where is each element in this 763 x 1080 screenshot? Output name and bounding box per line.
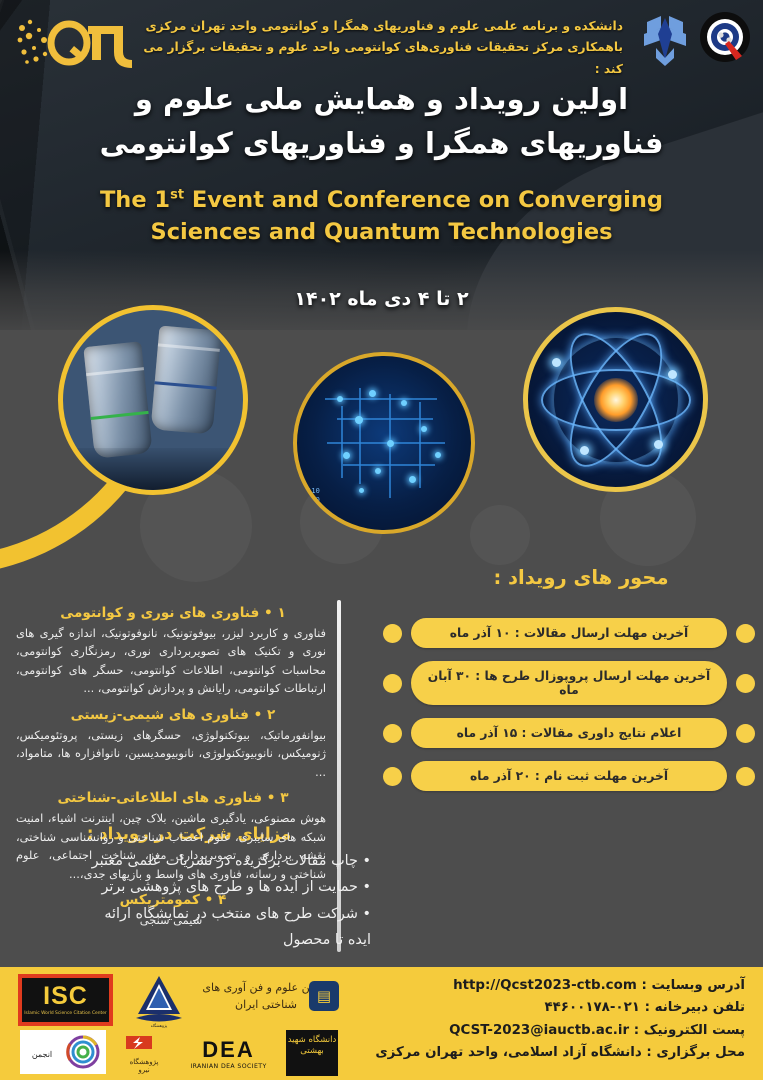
svg-text:نیرو: نیرو xyxy=(137,1066,149,1074)
english-title-line-1: The 1st Event and Conference on Convergi… xyxy=(0,185,763,217)
deadline-row: آخرین مهلت ارسال مقالات : ۱۰ آذر ماه xyxy=(383,618,755,648)
isc-subtext: Islamic World Science Citation Center xyxy=(24,1011,106,1016)
deadline-dot-right xyxy=(736,724,755,743)
topic-label: فناوری های اطلاعاتی-شناختی xyxy=(57,790,262,806)
binary-overlay: 0110010010011001 xyxy=(303,487,320,522)
association-circle-logo: انجمن xyxy=(20,1030,106,1074)
top-right-logos xyxy=(641,8,751,70)
topic-bullet: • xyxy=(264,605,273,621)
deadline-dot-right xyxy=(736,674,755,693)
sponsor-logos: ISC Islamic World Science Citation Cente… xyxy=(6,972,336,1076)
deadline-pill: آخرین مهلت ثبت نام : ۲۰ آذر ماه xyxy=(411,761,727,791)
shahid-beheshti-logo: دانشگاه شهید بهشتی xyxy=(286,1030,338,1076)
contact-phone: تلفن دبیرخانه : ۰۲۱-۴۴۶۰۰۱۷۸ xyxy=(345,997,745,1019)
website-label: آدرس وبسایت : xyxy=(641,978,745,993)
decorative-circle xyxy=(470,505,530,565)
english-title-prefix: The 1 xyxy=(100,187,170,213)
benefit-item: شرکت طرح های منتخب در نمایشگاه ارائه xyxy=(15,903,371,926)
persian-title-line-1: اولین رویداد و همایش ملی علوم و xyxy=(0,78,763,122)
topic-number: ۱ xyxy=(277,605,285,621)
english-title-rest: Event and Conference on Converging xyxy=(192,187,663,213)
deadline-dot-left xyxy=(383,724,402,743)
microscope-image xyxy=(58,305,248,495)
event-date: ۲ تا ۴ دی ماه ۱۴۰۲ xyxy=(0,288,763,310)
deadline-pill: آخرین مهلت ارسال پروپوزال طرح ها : ۳۰ آب… xyxy=(411,661,727,705)
topic-title: ۱ • فناوری های نوری و کوانتومی xyxy=(8,605,338,621)
benefit-item: حمایت از ایده ها و طرح های پژوهشی برتر xyxy=(15,876,371,899)
circuit-brain-image: 0110010010011001 xyxy=(293,352,475,534)
shahid-beheshti-text: دانشگاه شهید بهشتی xyxy=(286,1030,338,1058)
dea-subtext: IRANIAN DEA SOCIETY xyxy=(190,1063,266,1070)
deadline-dot-right xyxy=(736,767,755,786)
topic-title: ۳ • فناوری های اطلاعاتی-شناختی xyxy=(8,790,338,806)
topic-label: فناوری های شیمی-زیستی xyxy=(71,707,249,723)
svg-text:پژوهشگاه: پژوهشگاه xyxy=(151,1023,167,1028)
topic-number: ۳ xyxy=(280,790,288,806)
persian-title-line-2: فناوریهای همگرا و فناوریهای کوانتومی xyxy=(0,122,763,166)
topic-item: ۲ • فناوری های شیمی-زیستی بیوانفورماتیک،… xyxy=(8,707,338,781)
deadline-row: اعلام نتایج داوری مقالات : ۱۵ آذر ماه xyxy=(383,718,755,748)
deadline-dot-left xyxy=(383,767,402,786)
email-value[interactable]: QCST-2023@iauctb.ac.ir xyxy=(449,1023,629,1038)
english-title-line-2: Sciences and Quantum Technologies xyxy=(0,217,763,249)
atom-image xyxy=(523,307,708,492)
topic-body: فناوری و کاربرد لیزر، بیوفوتونیک، نانوفو… xyxy=(8,624,338,698)
isc-text: ISC xyxy=(43,984,88,1009)
topic-number: ۲ xyxy=(267,707,275,723)
quantum-research-center-logo xyxy=(699,11,751,67)
venue-value: دانشگاه آزاد اسلامی، واحد تهران مرکزی xyxy=(375,1045,641,1060)
deadline-dot-right xyxy=(736,624,755,643)
svg-text:پژوهشگاه: پژوهشگاه xyxy=(130,1057,159,1066)
topic-bullet: • xyxy=(267,790,276,806)
deadline-row: آخرین مهلت ارسال پروپوزال طرح ها : ۳۰ آب… xyxy=(383,661,755,705)
contact-website: آدرس وبسایت : http://Qcst2023-ctb.com xyxy=(345,975,745,997)
topic-body: بیوانفورماتیک، بیوتکنولوژی، حسگرهای زیست… xyxy=(8,726,338,781)
persian-title: اولین رویداد و همایش ملی علوم و فناوریها… xyxy=(0,78,763,165)
email-label: پست الکترونیک : xyxy=(634,1023,745,1038)
phone-value: ۰۲۱-۴۴۶۰۰۱۷۸ xyxy=(544,1000,639,1015)
contact-info: آدرس وبسایت : http://Qcst2023-ctb.com تل… xyxy=(345,975,745,1064)
benefit-item-continuation: ایده تا محصول xyxy=(15,929,371,952)
topics-heading: محور های رویداد : xyxy=(421,566,741,589)
contact-venue: محل برگزاری : دانشگاه آزاد اسلامی، واحد … xyxy=(345,1042,745,1064)
website-value[interactable]: http://Qcst2023-ctb.com xyxy=(453,978,637,993)
host-organizations: دانشکده و برنامه علمی علوم و فناوریهای ه… xyxy=(123,16,623,80)
host-line-1: دانشکده و برنامه علمی علوم و فناوریهای ه… xyxy=(123,16,623,37)
host-line-2: باهمکاری مرکز تحقیقات فناوری‌های کوانتوم… xyxy=(123,37,623,80)
venue-label: محل برگزاری : xyxy=(646,1045,745,1060)
svg-text:انجمن: انجمن xyxy=(31,1050,51,1059)
deadline-pill: اعلام نتایج داوری مقالات : ۱۵ آذر ماه xyxy=(411,718,727,748)
dea-text: DEA xyxy=(202,1039,254,1061)
english-title: The 1st Event and Conference on Convergi… xyxy=(0,185,763,249)
qcst-logo xyxy=(14,12,138,74)
conference-poster: دانشکده و برنامه علمی علوم و فناوریهای ه… xyxy=(0,0,763,1080)
benefits-list: چاپ مقالات برگزیده در نشریات علمی معتبر … xyxy=(15,850,371,955)
azad-university-logo xyxy=(641,8,689,70)
dea-logo: DEA IRANIAN DEA SOCIETY xyxy=(176,1034,281,1074)
deadlines-list: آخرین مهلت ارسال مقالات : ۱۰ آذر ماه آخر… xyxy=(383,618,755,804)
footer: ▤ آدرس وبسایت : http://Qcst2023-ctb.com … xyxy=(0,967,763,1080)
deadline-dot-left xyxy=(383,674,402,693)
deadline-row: آخرین مهلت ثبت نام : ۲۰ آذر ماه xyxy=(383,761,755,791)
nucleus xyxy=(594,378,638,422)
isc-logo: ISC Islamic World Science Citation Cente… xyxy=(18,974,113,1026)
topic-title: ۲ • فناوری های شیمی-زیستی xyxy=(8,707,338,723)
pajooheshgah-niroo-logo: پژوهشگاه نیرو xyxy=(118,1034,170,1076)
ordinal-suffix: st xyxy=(170,188,184,203)
benefit-item: چاپ مقالات برگزیده در نشریات علمی معتبر xyxy=(15,850,371,873)
deadline-dot-left xyxy=(383,624,402,643)
deadline-pill: آخرین مهلت ارسال مقالات : ۱۰ آذر ماه xyxy=(411,618,727,648)
triangle-institute-logo: پژوهشگاه xyxy=(128,974,190,1030)
topic-item: ۱ • فناوری های نوری و کوانتومی فناوری و … xyxy=(8,605,338,698)
website-icon: ▤ xyxy=(309,981,339,1011)
topic-bullet: • xyxy=(254,707,263,723)
contact-email: پست الکترونیک : QCST-2023@iauctb.ac.ir xyxy=(345,1020,745,1042)
topic-label: فناوری های نوری و کوانتومی xyxy=(60,605,259,621)
phone-label: تلفن دبیرخانه : xyxy=(645,1000,745,1015)
